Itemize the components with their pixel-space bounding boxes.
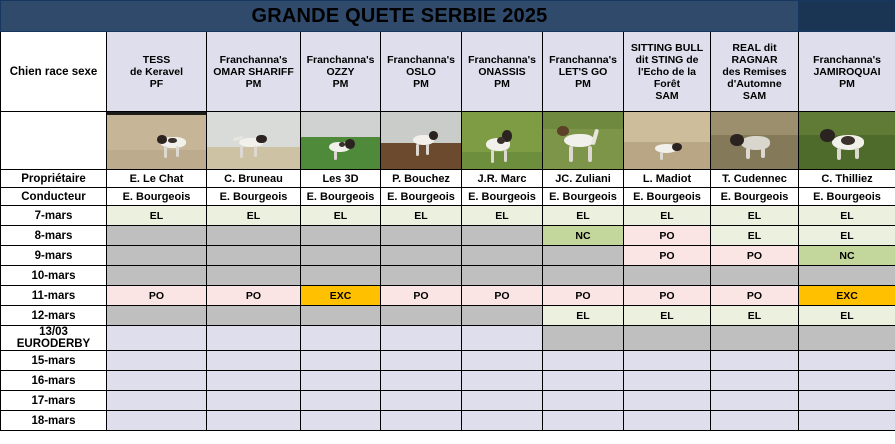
dog-name-line: SAM bbox=[624, 90, 710, 102]
handler-value-0: E. Bourgeois bbox=[107, 188, 207, 206]
date-row-label: 18-mars bbox=[1, 411, 107, 431]
dog-photo-3[interactable] bbox=[381, 112, 462, 170]
dog-photo-4[interactable] bbox=[462, 112, 543, 170]
dog-photo-image bbox=[799, 112, 895, 169]
result-cell[interactable]: EXC bbox=[301, 286, 381, 306]
title-row: GRANDE QUETE SERBIE 2025 bbox=[1, 1, 895, 32]
result-cell[interactable]: EL bbox=[799, 226, 895, 246]
dog-name-line: PM bbox=[381, 78, 461, 90]
dog-header-5[interactable]: Franchanna's LET'S GO PM bbox=[543, 32, 624, 112]
result-cell[interactable]: EL bbox=[711, 226, 799, 246]
result-cell[interactable] bbox=[381, 226, 462, 246]
dog-photo-2[interactable] bbox=[301, 112, 381, 170]
dog-name-line: JAMIROQUAI bbox=[799, 66, 895, 78]
spreadsheet-sheet: GRANDE QUETE SERBIE 2025 Chien race sexe… bbox=[0, 0, 895, 444]
dog-name-line: Franchanna's bbox=[207, 54, 300, 66]
dog-name-line: ONASSIS bbox=[462, 66, 542, 78]
dog-photo-8[interactable] bbox=[799, 112, 895, 170]
title-filler bbox=[799, 1, 895, 32]
result-cell[interactable]: PO bbox=[381, 286, 462, 306]
result-cell[interactable] bbox=[624, 391, 711, 411]
dog-name-line: PM bbox=[543, 78, 623, 90]
result-cell[interactable] bbox=[207, 226, 301, 246]
result-cell[interactable]: PO bbox=[711, 246, 799, 266]
result-cell[interactable] bbox=[207, 326, 301, 351]
result-cell[interactable] bbox=[207, 411, 301, 431]
result-cell[interactable]: EL bbox=[711, 306, 799, 326]
owner-value-0: E. Le Chat bbox=[107, 170, 207, 188]
result-cell[interactable]: NC bbox=[543, 226, 624, 246]
handler-value-6: E. Bourgeois bbox=[624, 188, 711, 206]
dog-header-8[interactable]: Franchanna's JAMIROQUAI PM bbox=[799, 32, 895, 112]
owner-value-8: C. Thilliez bbox=[799, 170, 895, 188]
result-cell[interactable] bbox=[624, 371, 711, 391]
date-row: 13/03 EURODERBY bbox=[1, 326, 895, 351]
date-rows-body: 7-marsELELELELELELELELEL8-marsNCPOELEL9-… bbox=[1, 206, 895, 431]
result-cell[interactable] bbox=[381, 371, 462, 391]
result-cell[interactable] bbox=[799, 351, 895, 371]
dog-name-line: Franchanna's bbox=[301, 54, 380, 66]
dog-photo-image bbox=[107, 112, 206, 169]
result-cell[interactable]: EL bbox=[462, 206, 543, 226]
result-cell[interactable] bbox=[381, 306, 462, 326]
handler-value-5: E. Bourgeois bbox=[543, 188, 624, 206]
result-cell[interactable]: EL bbox=[301, 206, 381, 226]
result-cell[interactable] bbox=[381, 326, 462, 351]
date-row: 15-mars bbox=[1, 351, 895, 371]
result-cell[interactable] bbox=[624, 326, 711, 351]
result-cell[interactable] bbox=[301, 391, 381, 411]
dog-photo-image bbox=[624, 112, 710, 169]
dog-header-3[interactable]: Franchanna's OSLO PM bbox=[381, 32, 462, 112]
result-cell[interactable] bbox=[543, 266, 624, 286]
dog-name-line: Franchanna's bbox=[462, 54, 542, 66]
result-cell[interactable]: EL bbox=[624, 206, 711, 226]
result-cell[interactable] bbox=[624, 351, 711, 371]
date-row-label: 7-mars bbox=[1, 206, 107, 226]
result-cell[interactable] bbox=[207, 351, 301, 371]
dog-photo-6[interactable] bbox=[624, 112, 711, 170]
dog-photo-row bbox=[1, 112, 895, 170]
dog-name-line: PM bbox=[301, 78, 380, 90]
result-cell[interactable] bbox=[799, 391, 895, 411]
date-row-label: 11-mars bbox=[1, 286, 107, 306]
dog-photo-image bbox=[462, 112, 542, 169]
result-cell[interactable] bbox=[543, 246, 624, 266]
result-cell[interactable] bbox=[301, 266, 381, 286]
handler-value-7: E. Bourgeois bbox=[711, 188, 799, 206]
dog-name-line: l'Echo de la bbox=[624, 66, 710, 78]
result-cell[interactable] bbox=[462, 411, 543, 431]
date-row-label: 16-mars bbox=[1, 371, 107, 391]
dog-name-line: OSLO bbox=[381, 66, 461, 78]
dog-header-6[interactable]: SITTING BULL dit STING de l'Echo de la F… bbox=[624, 32, 711, 112]
result-cell[interactable]: PO bbox=[624, 226, 711, 246]
dog-name-line: de Keravel bbox=[107, 66, 206, 78]
handler-row-label: Conducteur bbox=[1, 188, 107, 206]
result-cell[interactable] bbox=[107, 246, 207, 266]
result-cell[interactable] bbox=[107, 391, 207, 411]
handler-value-1: E. Bourgeois bbox=[207, 188, 301, 206]
dog-name-line: PM bbox=[799, 78, 895, 90]
result-cell[interactable] bbox=[301, 246, 381, 266]
result-cell[interactable]: PO bbox=[711, 286, 799, 306]
dog-name-line: PF bbox=[107, 78, 206, 90]
result-cell[interactable] bbox=[543, 391, 624, 411]
result-cell[interactable] bbox=[207, 266, 301, 286]
dog-name-line: des Remises bbox=[711, 66, 798, 78]
dog-photo-image bbox=[711, 112, 798, 169]
date-row-label: 9-mars bbox=[1, 246, 107, 266]
result-cell[interactable]: EL bbox=[107, 206, 207, 226]
result-cell[interactable]: EL bbox=[207, 206, 301, 226]
result-cell[interactable] bbox=[107, 326, 207, 351]
result-cell[interactable] bbox=[107, 411, 207, 431]
dog-name-line: Franchanna's bbox=[381, 54, 461, 66]
date-row-label: 8-mars bbox=[1, 226, 107, 246]
result-cell[interactable] bbox=[543, 351, 624, 371]
result-cell[interactable] bbox=[381, 391, 462, 411]
date-row-label: 15-mars bbox=[1, 351, 107, 371]
result-cell[interactable] bbox=[543, 326, 624, 351]
page-title: GRANDE QUETE SERBIE 2025 bbox=[1, 1, 799, 32]
result-cell[interactable] bbox=[381, 246, 462, 266]
owner-value-6: L. Madiot bbox=[624, 170, 711, 188]
result-cell[interactable] bbox=[381, 266, 462, 286]
result-cell[interactable]: EL bbox=[624, 306, 711, 326]
owner-value-2: Les 3D bbox=[301, 170, 381, 188]
dog-name-line: OMAR SHARIFF bbox=[207, 66, 300, 78]
results-table: GRANDE QUETE SERBIE 2025 Chien race sexe… bbox=[0, 0, 895, 431]
result-cell[interactable]: PO bbox=[624, 286, 711, 306]
result-cell[interactable] bbox=[207, 306, 301, 326]
dog-photo-7[interactable] bbox=[711, 112, 799, 170]
dog-name-line: PM bbox=[462, 78, 542, 90]
result-cell[interactable] bbox=[107, 371, 207, 391]
result-cell[interactable]: EL bbox=[799, 206, 895, 226]
owner-value-7: T. Cudennec bbox=[711, 170, 799, 188]
handler-row: Conducteur E. Bourgeois E. Bourgeois E. … bbox=[1, 188, 895, 206]
result-cell[interactable] bbox=[207, 371, 301, 391]
date-row-label: 10-mars bbox=[1, 266, 107, 286]
dog-header-1[interactable]: Franchanna's OMAR SHARIFF PM bbox=[207, 32, 301, 112]
result-cell[interactable] bbox=[107, 351, 207, 371]
dog-name-line: PM bbox=[207, 78, 300, 90]
result-cell[interactable]: EL bbox=[543, 206, 624, 226]
handler-value-8: E. Bourgeois bbox=[799, 188, 895, 206]
handler-value-4: E. Bourgeois bbox=[462, 188, 543, 206]
dog-name-line: REAL dit bbox=[711, 42, 798, 54]
dog-name-line: Franchanna's bbox=[543, 54, 623, 66]
result-cell[interactable]: PO bbox=[624, 246, 711, 266]
dog-header-7[interactable]: REAL dit RAGNAR des Remises d'Automne SA… bbox=[711, 32, 799, 112]
owner-value-1: C. Bruneau bbox=[207, 170, 301, 188]
owner-value-5: JC. Zuliani bbox=[543, 170, 624, 188]
result-cell[interactable]: EL bbox=[799, 306, 895, 326]
dog-name-line: Forêt bbox=[624, 78, 710, 90]
dog-header-0[interactable]: TESS de Keravel PF bbox=[107, 32, 207, 112]
result-cell[interactable]: EL bbox=[381, 206, 462, 226]
result-cell[interactable] bbox=[462, 326, 543, 351]
result-cell[interactable] bbox=[381, 411, 462, 431]
result-cell[interactable] bbox=[462, 226, 543, 246]
dog-name-line: TESS bbox=[107, 54, 206, 66]
result-cell[interactable] bbox=[799, 266, 895, 286]
result-cell[interactable] bbox=[107, 306, 207, 326]
date-row-label: 12-mars bbox=[1, 306, 107, 326]
result-cell[interactable] bbox=[301, 411, 381, 431]
date-row: 9-marsPOPONC bbox=[1, 246, 895, 266]
dog-photo-image bbox=[207, 112, 300, 169]
result-cell[interactable] bbox=[711, 351, 799, 371]
result-cell[interactable] bbox=[543, 371, 624, 391]
owner-row-label: Propriétaire bbox=[1, 170, 107, 188]
dog-name-line: OZZY bbox=[301, 66, 380, 78]
dog-name-line: SITTING BULL bbox=[624, 42, 710, 54]
result-cell[interactable]: NC bbox=[799, 246, 895, 266]
dog-photo-1[interactable] bbox=[207, 112, 301, 170]
result-cell[interactable] bbox=[462, 306, 543, 326]
result-cell[interactable] bbox=[624, 266, 711, 286]
photo-row-label bbox=[1, 112, 107, 170]
handler-value-3: E. Bourgeois bbox=[381, 188, 462, 206]
date-row-label: 13/03 EURODERBY bbox=[1, 326, 107, 351]
dog-photo-0[interactable] bbox=[107, 112, 207, 170]
result-cell[interactable]: PO bbox=[543, 286, 624, 306]
result-cell[interactable] bbox=[301, 326, 381, 351]
date-row: 8-marsNCPOELEL bbox=[1, 226, 895, 246]
result-cell[interactable]: PO bbox=[462, 286, 543, 306]
result-cell[interactable] bbox=[799, 326, 895, 351]
result-cell[interactable] bbox=[207, 246, 301, 266]
result-cell[interactable] bbox=[301, 226, 381, 246]
result-cell[interactable] bbox=[711, 371, 799, 391]
dog-photo-image bbox=[301, 112, 380, 169]
dog-photo-5[interactable] bbox=[543, 112, 624, 170]
result-cell[interactable] bbox=[462, 266, 543, 286]
result-cell[interactable] bbox=[107, 266, 207, 286]
date-row: 11-marsPOPOEXCPOPOPOPOPOEXC bbox=[1, 286, 895, 306]
result-cell[interactable]: EXC bbox=[799, 286, 895, 306]
result-cell[interactable] bbox=[207, 391, 301, 411]
result-cell[interactable] bbox=[301, 306, 381, 326]
result-cell[interactable] bbox=[711, 391, 799, 411]
dog-photo-image bbox=[543, 112, 623, 169]
owner-row: Propriétaire E. Le Chat C. Bruneau Les 3… bbox=[1, 170, 895, 188]
dog-name-line: LET'S GO bbox=[543, 66, 623, 78]
date-row: 18-mars bbox=[1, 411, 895, 431]
dog-name-line: RAGNAR bbox=[711, 54, 798, 66]
owner-value-4: J.R. Marc bbox=[462, 170, 543, 188]
date-row: 12-marsELELELEL bbox=[1, 306, 895, 326]
result-cell[interactable] bbox=[381, 351, 462, 371]
result-cell[interactable] bbox=[462, 351, 543, 371]
dog-header-row: Chien race sexe TESS de Keravel PF Franc… bbox=[1, 32, 895, 112]
result-cell[interactable] bbox=[711, 411, 799, 431]
date-row-label: 17-mars bbox=[1, 391, 107, 411]
result-cell[interactable] bbox=[462, 391, 543, 411]
header-label-chien-race-sexe: Chien race sexe bbox=[1, 32, 107, 112]
dog-header-2[interactable]: Franchanna's OZZY PM bbox=[301, 32, 381, 112]
dog-header-4[interactable]: Franchanna's ONASSIS PM bbox=[462, 32, 543, 112]
result-cell[interactable]: EL bbox=[711, 206, 799, 226]
result-cell[interactable] bbox=[711, 326, 799, 351]
result-cell[interactable]: PO bbox=[207, 286, 301, 306]
date-row: 16-mars bbox=[1, 371, 895, 391]
result-cell[interactable] bbox=[107, 226, 207, 246]
owner-value-3: P. Bouchez bbox=[381, 170, 462, 188]
result-cell[interactable]: EL bbox=[543, 306, 624, 326]
dog-photo-image bbox=[381, 112, 461, 169]
result-cell[interactable] bbox=[462, 371, 543, 391]
result-cell[interactable] bbox=[799, 371, 895, 391]
result-cell[interactable] bbox=[543, 411, 624, 431]
result-cell[interactable] bbox=[624, 411, 711, 431]
dog-name-line: SAM bbox=[711, 90, 798, 102]
date-row: 17-mars bbox=[1, 391, 895, 411]
handler-value-2: E. Bourgeois bbox=[301, 188, 381, 206]
result-cell[interactable] bbox=[462, 246, 543, 266]
result-cell[interactable] bbox=[301, 351, 381, 371]
date-row: 7-marsELELELELELELELELEL bbox=[1, 206, 895, 226]
result-cell[interactable] bbox=[711, 266, 799, 286]
result-cell[interactable] bbox=[301, 371, 381, 391]
result-cell[interactable] bbox=[799, 411, 895, 431]
dog-name-line: d'Automne bbox=[711, 78, 798, 90]
dog-name-line: dit STING de bbox=[624, 54, 710, 66]
result-cell[interactable]: PO bbox=[107, 286, 207, 306]
dog-name-line: Franchanna's bbox=[799, 54, 895, 66]
date-row: 10-mars bbox=[1, 266, 895, 286]
